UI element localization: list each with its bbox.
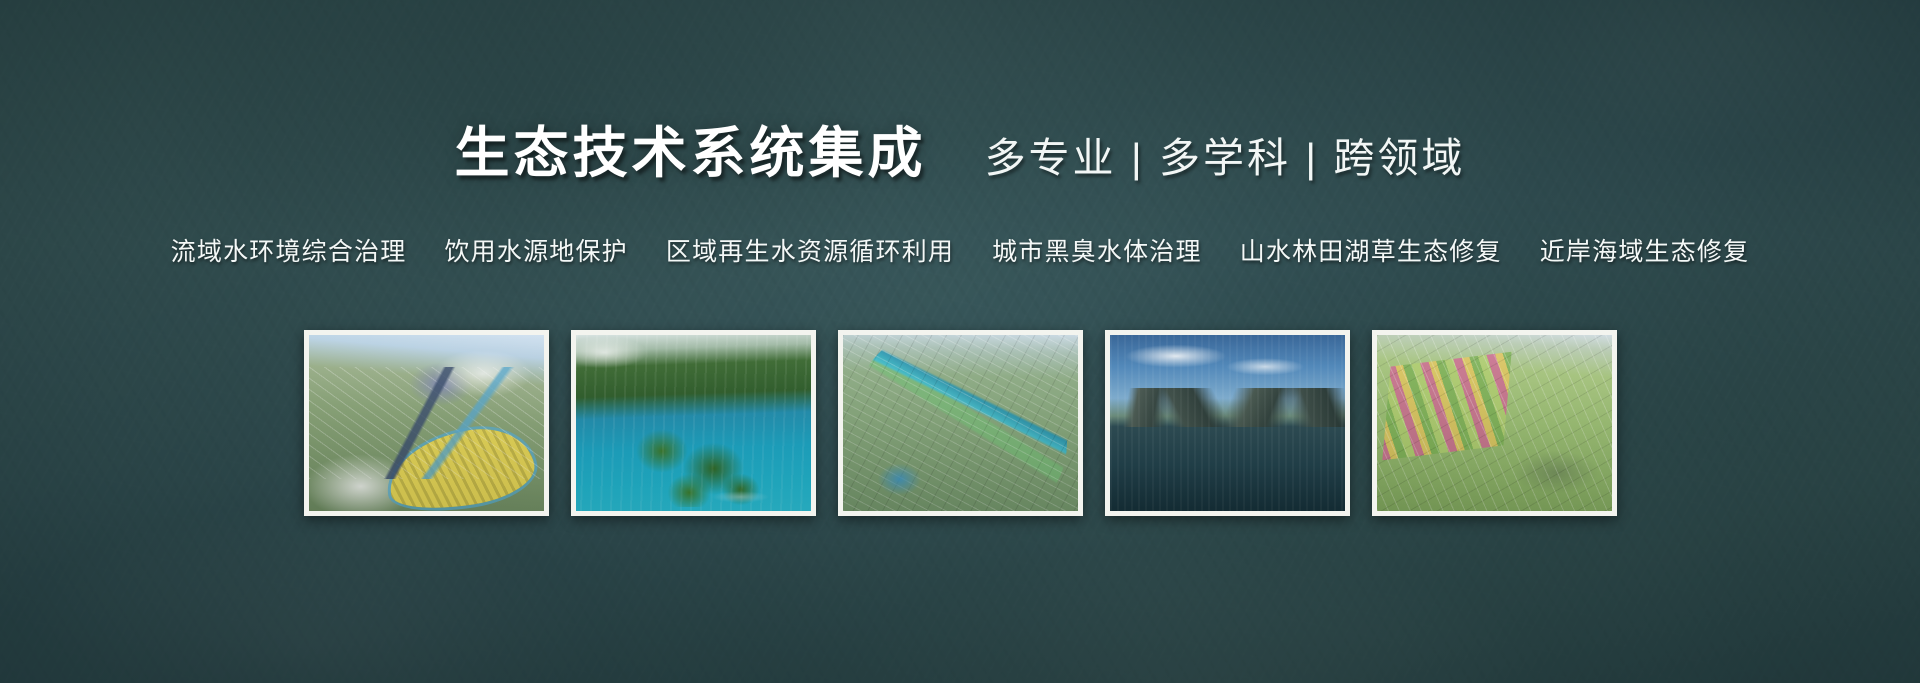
thumbnail-image-1 — [576, 335, 811, 511]
watershed-aerial-plan-icon — [309, 335, 544, 511]
keyword-item-1[interactable]: 饮用水源地保护 — [444, 232, 627, 268]
banner-content: 生态技术系统集成 多专业 | 多学科 | 跨领域 流域水环境综合治理 饮用水源地… — [0, 0, 1920, 683]
keyword-item-2[interactable]: 区域再生水资源循环利用 — [666, 232, 954, 268]
keyword-list: 流域水环境综合治理 饮用水源地保护 区域再生水资源循环利用 城市黑臭水体治理 山… — [0, 232, 1920, 268]
thumbnail-forest-lake-islands[interactable] — [571, 330, 816, 516]
thumbnail-alpine-lake-reflection[interactable] — [1105, 330, 1350, 516]
hero-banner: 生态技术系统集成 多专业 | 多学科 | 跨领域 流域水环境综合治理 饮用水源地… — [0, 0, 1920, 683]
thumbnail-image-3 — [1110, 335, 1345, 511]
keyword-item-4[interactable]: 山水林田湖草生态修复 — [1240, 232, 1502, 268]
forest-lake-islands-icon — [576, 335, 811, 511]
thumbnail-watershed-aerial-plan[interactable] — [304, 330, 549, 516]
thumbnail-river-corridor-restoration[interactable] — [838, 330, 1083, 516]
headline-row: 生态技术系统集成 多专业 | 多学科 | 跨领域 — [0, 108, 1920, 188]
page-subtitle: 多专业 | 多学科 | 跨领域 — [985, 124, 1466, 184]
alpine-lake-reflection-icon — [1110, 335, 1345, 511]
river-corridor-restoration-icon — [843, 335, 1078, 511]
farmland-patchwork-icon — [1377, 335, 1612, 511]
thumbnail-image-4 — [1377, 335, 1612, 511]
thumbnail-farmland-patchwork[interactable] — [1372, 330, 1617, 516]
keyword-item-5[interactable]: 近岸海域生态修复 — [1540, 232, 1750, 268]
keyword-item-0[interactable]: 流域水环境综合治理 — [171, 232, 407, 268]
thumbnail-image-2 — [843, 335, 1078, 511]
thumbnail-image-0 — [309, 335, 544, 511]
thumbnail-gallery — [0, 330, 1920, 516]
page-title: 生态技术系统集成 — [455, 108, 927, 188]
keyword-item-3[interactable]: 城市黑臭水体治理 — [992, 232, 1202, 268]
